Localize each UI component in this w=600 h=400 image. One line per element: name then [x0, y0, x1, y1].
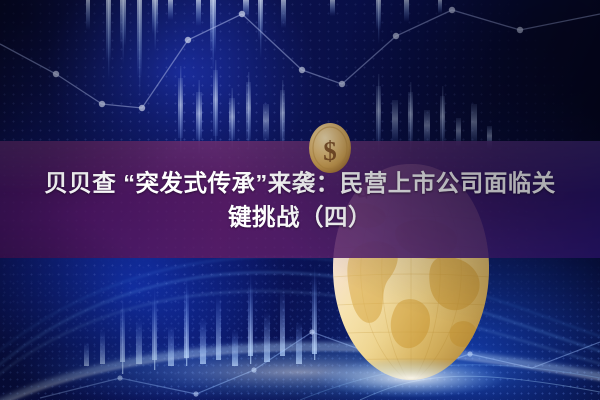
headline-line-1: 贝贝查 “突发式传承”来袭：民营上市公司面临关	[44, 169, 556, 197]
headline-block: 贝贝查 “突发式传承”来袭：民营上市公司面临关 键挑战（四）	[0, 141, 600, 258]
headline-line-2: 键挑战（四）	[228, 203, 372, 231]
image-canvas: $ $ 贝贝查 “突发式传承”来袭：民营上市公司面临关 键挑战（四）	[0, 0, 600, 400]
